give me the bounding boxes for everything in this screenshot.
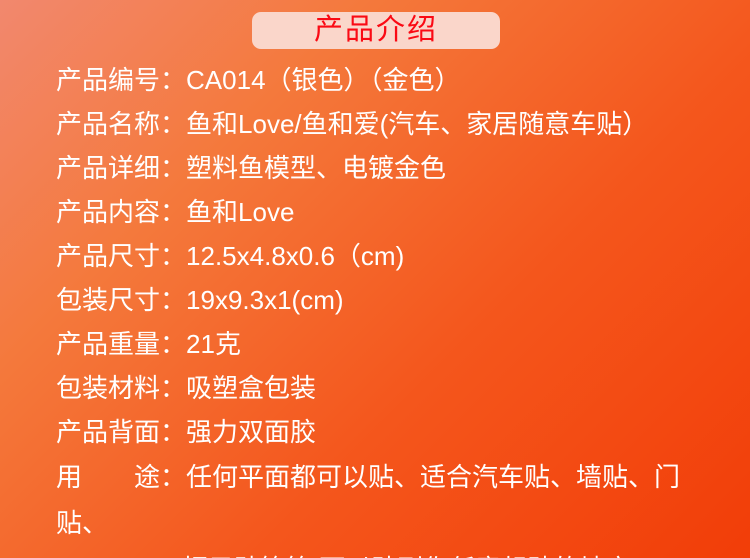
header-badge: 产品介绍	[252, 12, 500, 49]
page-title: 产品介绍	[314, 16, 438, 45]
spec-separator: ：	[160, 285, 186, 315]
spec-label: 包装材料	[56, 373, 160, 403]
spec-separator: ：	[160, 373, 186, 403]
usage-label: 用 途：	[56, 462, 186, 492]
spec-value: 鱼和Love/鱼和爱(汽车、家居随意车贴）	[186, 109, 648, 139]
spec-label: 产品名称	[56, 109, 160, 139]
spec-row-product-back: 产品背面：强力双面胶	[56, 410, 746, 454]
spec-label: 产品背面	[56, 417, 160, 447]
spec-row-product-name: 产品名称：鱼和Love/鱼和爱(汽车、家居随意车贴）	[56, 102, 746, 146]
usage-value-line-2: 柜子贴等等,可以贴到你任意想贴的地方。	[56, 546, 716, 558]
spec-value: 鱼和Love	[186, 197, 294, 227]
spec-separator: ：	[160, 109, 186, 139]
spec-separator: ：	[160, 329, 186, 359]
spec-row-product-contents: 产品内容：鱼和Love	[56, 190, 746, 234]
spec-label: 产品重量	[56, 329, 160, 359]
spec-list: 产品编号：CA014（银色）（金色） 产品名称：鱼和Love/鱼和爱(汽车、家居…	[56, 58, 746, 546]
spec-row-usage: 用 途：任何平面都可以贴、适合汽车贴、墙贴、门贴、 柜子贴等等,可以贴到你任意想…	[56, 454, 716, 546]
spec-value: 吸塑盒包装	[186, 373, 316, 403]
spec-label: 产品详细	[56, 153, 160, 183]
spec-label: 包装尺寸	[56, 285, 160, 315]
spec-separator: ：	[160, 197, 186, 227]
spec-row-product-code: 产品编号：CA014（银色）（金色）	[56, 58, 746, 102]
spec-row-product-weight: 产品重量：21克	[56, 322, 746, 366]
spec-value: CA014（银色）（金色）	[186, 65, 461, 95]
spec-separator: ：	[160, 65, 186, 95]
spec-row-product-detail: 产品详细：塑料鱼模型、电镀金色	[56, 146, 746, 190]
spec-row-package-size: 包装尺寸：19x9.3x1(cm)	[56, 278, 746, 322]
spec-value: 12.5x4.8x0.6（cm)	[186, 241, 404, 271]
spec-label: 产品内容	[56, 197, 160, 227]
spec-value: 21克	[186, 329, 241, 359]
spec-label: 产品尺寸	[56, 241, 160, 271]
spec-separator: ：	[160, 241, 186, 271]
product-info-panel: 产品介绍 产品编号：CA014（银色）（金色） 产品名称：鱼和Love/鱼和爱(…	[0, 0, 750, 558]
spec-row-product-size: 产品尺寸：12.5x4.8x0.6（cm)	[56, 234, 746, 278]
spec-value: 强力双面胶	[186, 417, 316, 447]
spec-value: 19x9.3x1(cm)	[186, 285, 344, 315]
spec-value: 塑料鱼模型、电镀金色	[186, 153, 446, 183]
spec-label: 产品编号	[56, 65, 160, 95]
spec-separator: ：	[160, 417, 186, 447]
spec-row-package-material: 包装材料：吸塑盒包装	[56, 366, 746, 410]
spec-separator: ：	[160, 153, 186, 183]
